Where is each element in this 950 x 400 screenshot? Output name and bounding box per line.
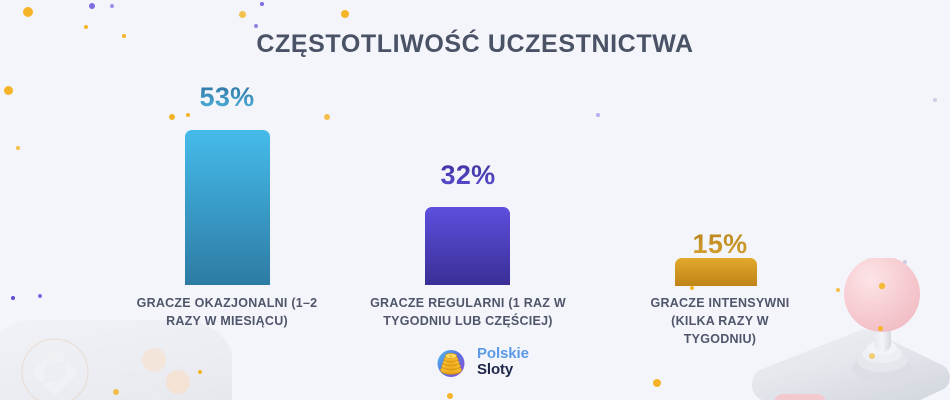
bar-label-line: (KILKA RAZY W — [605, 313, 835, 331]
bar-group-casual: 53% GRACZE OKAZJONALNI (1–2 RAZY W MIESI… — [112, 0, 342, 400]
infographic-canvas: CZĘSTOTLIWOŚĆ UCZESTNICTWA 53% GRACZE OK… — [0, 0, 950, 400]
bar-label-line: TYGODNIU) — [605, 331, 835, 349]
brand-name-top: Polskie — [477, 346, 529, 362]
bar-label-line: GRACZE REGULARNI (1 RAZ W — [353, 295, 583, 313]
bar-chart: 53% GRACZE OKAZJONALNI (1–2 RAZY W MIESI… — [0, 0, 950, 400]
bar-value-intensive: 15% — [605, 229, 835, 260]
svg-text:$: $ — [450, 354, 452, 358]
bar-regular[interactable] — [425, 207, 510, 285]
brand-logo[interactable]: $ Polskie Sloty — [432, 343, 529, 381]
bar-label-regular: GRACZE REGULARNI (1 RAZ W TYGODNIU LUB C… — [353, 295, 583, 331]
bar-intensive[interactable] — [675, 258, 757, 286]
bar-label-line: GRACZE OKAZJONALNI (1–2 — [112, 295, 342, 313]
bar-group-regular: 32% GRACZE REGULARNI (1 RAZ W TYGODNIU L… — [353, 0, 583, 400]
bar-label-intensive: GRACZE INTENSYWNI (KILKA RAZY W TYGODNIU… — [605, 295, 835, 348]
brand-name-bottom: Sloty — [477, 362, 529, 378]
bar-group-intensive: 15% GRACZE INTENSYWNI (KILKA RAZY W TYGO… — [605, 0, 835, 400]
bar-label-casual: GRACZE OKAZJONALNI (1–2 RAZY W MIESIĄCU) — [112, 295, 342, 331]
bar-label-line: TYGODNIU LUB CZĘŚCIEJ) — [353, 313, 583, 331]
bar-value-casual: 53% — [112, 82, 342, 113]
bar-casual[interactable] — [185, 130, 270, 285]
bar-value-regular: 32% — [353, 160, 583, 191]
coins-logo-icon: $ — [432, 343, 470, 381]
bar-label-line: RAZY W MIESIĄCU) — [112, 313, 342, 331]
bar-label-line: GRACZE INTENSYWNI — [605, 295, 835, 313]
brand-logo-text: Polskie Sloty — [477, 346, 529, 378]
